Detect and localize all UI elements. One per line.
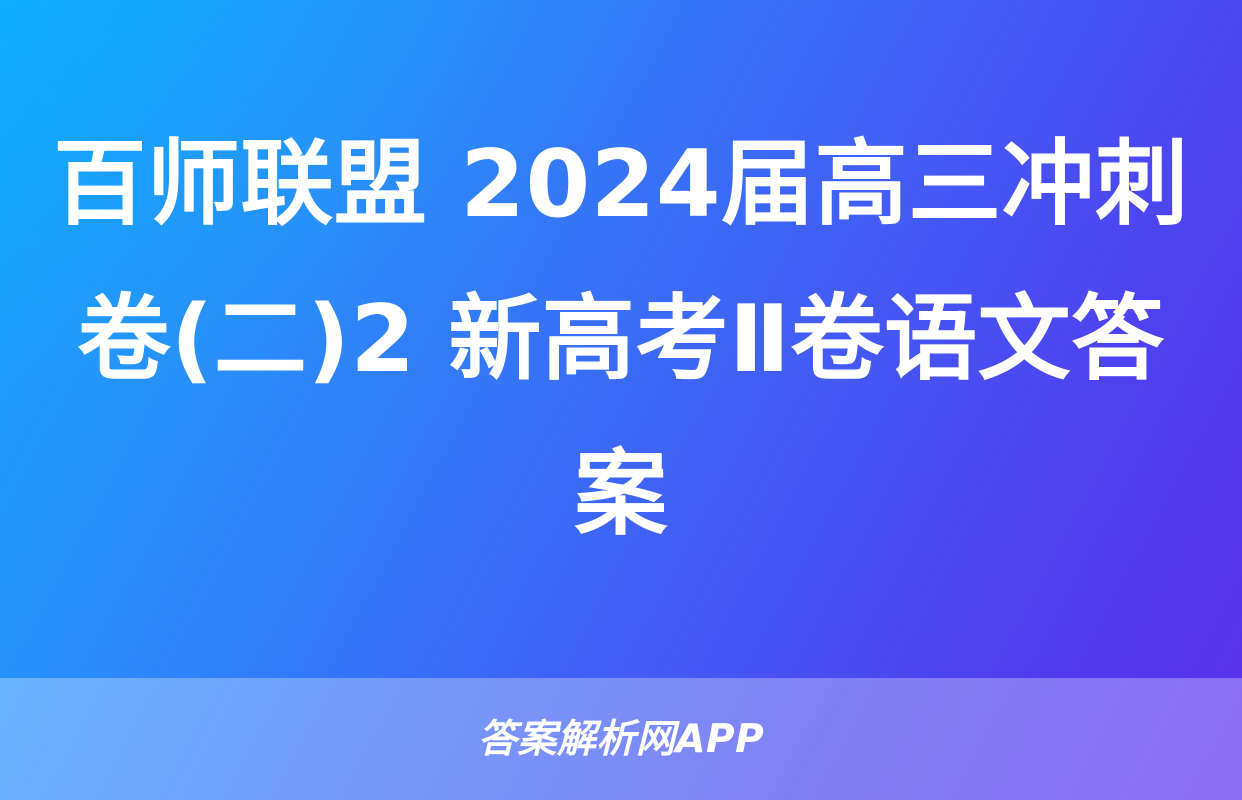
title-area: 百师联盟 2024届高三冲刺卷(二)2 新高考Ⅱ卷语文答案 (0, 0, 1242, 678)
footer-watermark-band: 答案解析网APP (0, 678, 1242, 800)
footer-watermark-text: 答案解析网APP (478, 720, 764, 759)
page-title: 百师联盟 2024届高三冲刺卷(二)2 新高考Ⅱ卷语文答案 (46, 107, 1196, 572)
promo-card: 百师联盟 2024届高三冲刺卷(二)2 新高考Ⅱ卷语文答案 答案解析网APP (0, 0, 1242, 800)
